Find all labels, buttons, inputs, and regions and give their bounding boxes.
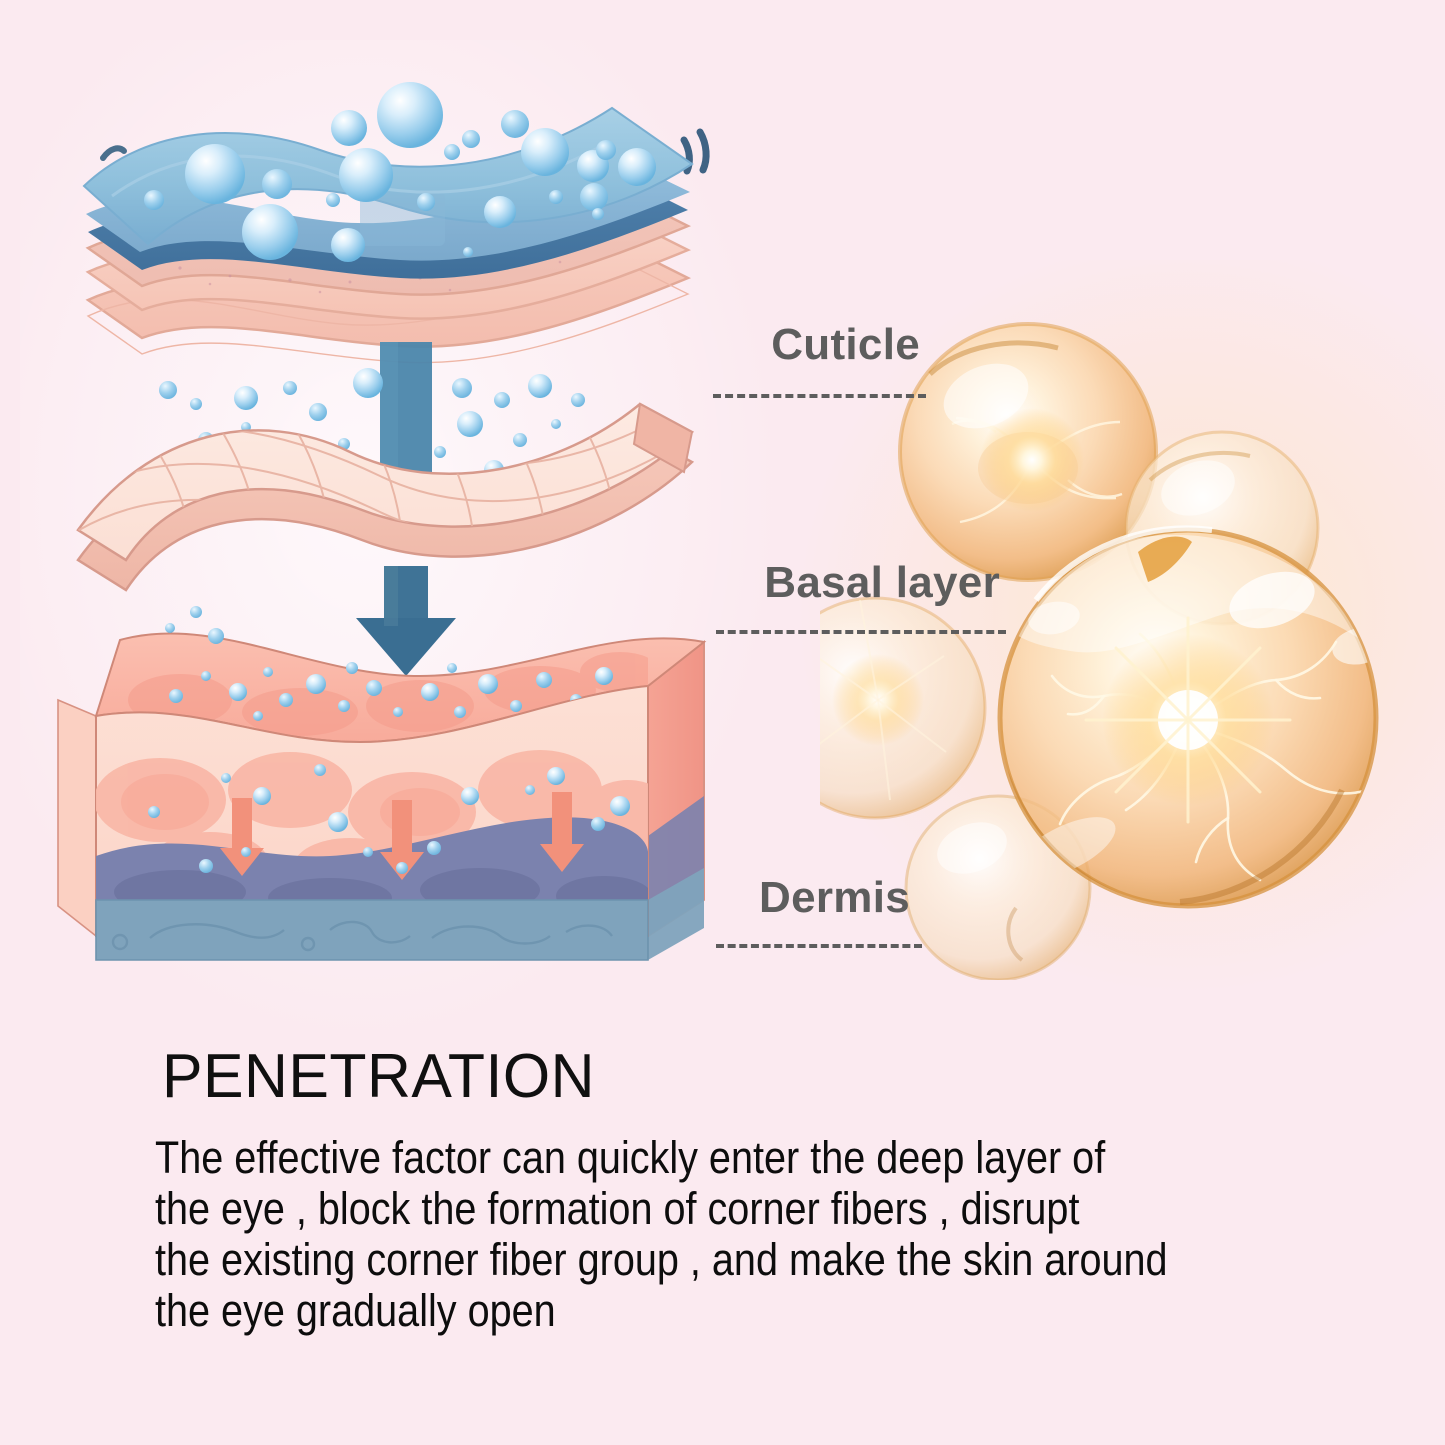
label-dermis-underline [716, 944, 922, 948]
page-title: PENETRATION [162, 1046, 595, 1108]
label-cuticle-underline [713, 394, 926, 398]
description-paragraph: The effective factor can quickly enter t… [155, 1132, 1193, 1336]
skin-diagram [0, 0, 760, 1020]
poster-canvas: Cuticle Basal layer Dermis PENETRATION T… [0, 0, 1445, 1445]
label-basal-layer: Basal layer [600, 558, 1000, 608]
label-dermis: Dermis [600, 873, 910, 923]
label-basal-layer-underline [716, 630, 1006, 634]
label-cuticle: Cuticle [600, 320, 920, 370]
penetration-arrow-lower [356, 566, 456, 676]
golden-serum-droplets [820, 300, 1440, 980]
